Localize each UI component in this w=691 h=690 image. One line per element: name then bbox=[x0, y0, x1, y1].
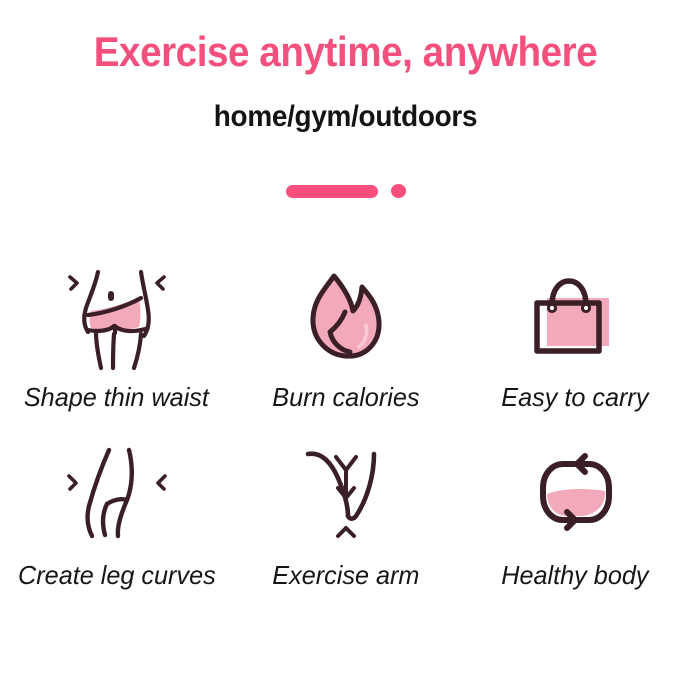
feature-label: Exercise arm bbox=[272, 560, 419, 590]
feature-item-easy-to-carry[interactable]: Easy to carry bbox=[458, 262, 691, 436]
feature-label: Healthy body bbox=[501, 560, 648, 590]
page-title: Exercise anytime, anywhere bbox=[28, 26, 664, 78]
pagination-dot-active[interactable] bbox=[286, 185, 378, 198]
feature-item-healthy-body[interactable]: Healthy body bbox=[458, 436, 691, 590]
page-subtitle: home/gym/outdoors bbox=[24, 98, 667, 136]
feature-label: Easy to carry bbox=[501, 382, 648, 412]
feature-item-create-leg-curves[interactable]: Create leg curves bbox=[0, 436, 233, 590]
waist-hips-icon bbox=[61, 262, 173, 374]
feature-item-shape-thin-waist[interactable]: Shape thin waist bbox=[0, 262, 233, 436]
legs-curve-icon bbox=[61, 436, 173, 548]
promo-page: Exercise anytime, anywhere home/gym/outd… bbox=[0, 0, 691, 690]
feature-item-exercise-arm[interactable]: Exercise arm bbox=[233, 436, 458, 590]
feature-item-burn-calories[interactable]: Burn calories bbox=[233, 262, 458, 436]
cycle-refresh-icon bbox=[523, 436, 627, 548]
pagination-indicator bbox=[0, 182, 691, 200]
handbag-icon bbox=[523, 262, 627, 374]
feature-label: Create leg curves bbox=[18, 560, 216, 590]
flame-icon bbox=[304, 262, 388, 374]
pagination-dot-inactive[interactable] bbox=[391, 184, 406, 198]
arm-torso-icon bbox=[300, 436, 392, 548]
feature-label: Shape thin waist bbox=[24, 382, 209, 412]
feature-label: Burn calories bbox=[272, 382, 419, 412]
feature-grid: Shape thin waist Burn calories bbox=[0, 262, 691, 590]
